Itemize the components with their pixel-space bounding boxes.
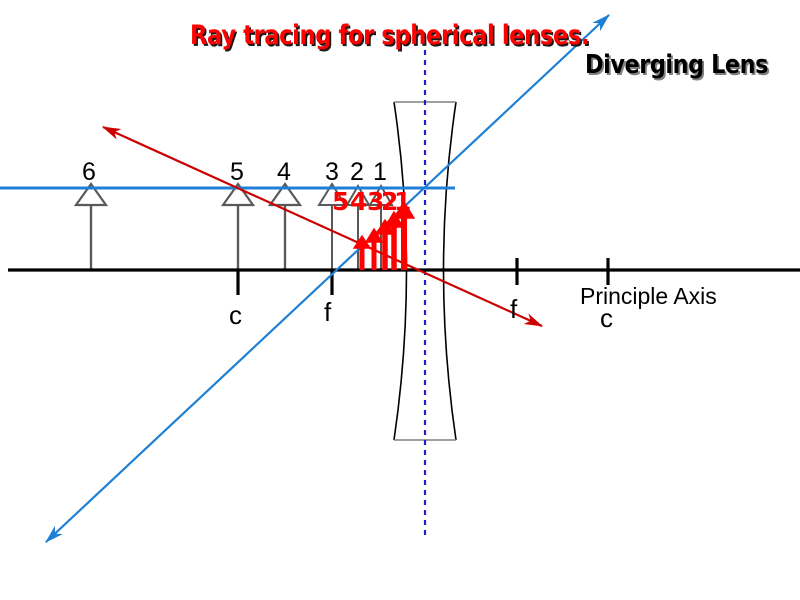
- object-label-4: 4: [277, 160, 291, 185]
- object-label-2: 2: [350, 160, 364, 185]
- page-title: Ray tracing for spherical lenses.: [190, 22, 589, 49]
- object-label-6: 6: [82, 160, 96, 185]
- image-label-4: 4: [350, 189, 367, 214]
- page-subtitle: Diverging Lens: [585, 52, 768, 78]
- refracted-diverging-ray: [46, 15, 609, 542]
- object-arrow-5: [223, 184, 253, 270]
- axis-label-f-left: f: [324, 299, 331, 325]
- image-arrow-4: [366, 229, 382, 270]
- object-label-5: 5: [230, 160, 244, 185]
- chief-ray: [103, 127, 542, 326]
- ray-diagram-canvas: Ray tracing for spherical lenses. Diverg…: [0, 0, 800, 600]
- principal-axis-label: Principle Axis: [580, 285, 717, 308]
- image-label-1: 1: [394, 189, 411, 214]
- axis-label-f-right: f: [510, 296, 517, 322]
- object-arrow-6: [76, 184, 106, 270]
- diverging-lens: [394, 50, 456, 540]
- object-label-3: 3: [325, 160, 339, 185]
- axis-label-c-left: c: [229, 302, 242, 328]
- object-arrow-4: [270, 184, 300, 270]
- object-label-1: 1: [373, 160, 387, 185]
- image-label-5: 5: [332, 189, 349, 214]
